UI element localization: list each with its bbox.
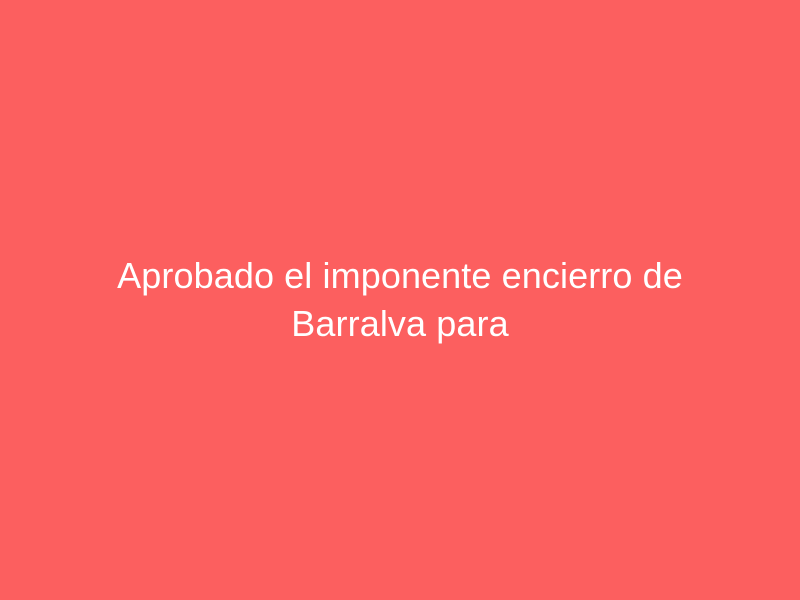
headline-block: Aprobado el imponente encierro de Barral… (70, 252, 730, 348)
placeholder-canvas: Aprobado el imponente encierro de Barral… (0, 0, 800, 600)
headline-title: Aprobado el imponente encierro de Barral… (80, 252, 720, 348)
